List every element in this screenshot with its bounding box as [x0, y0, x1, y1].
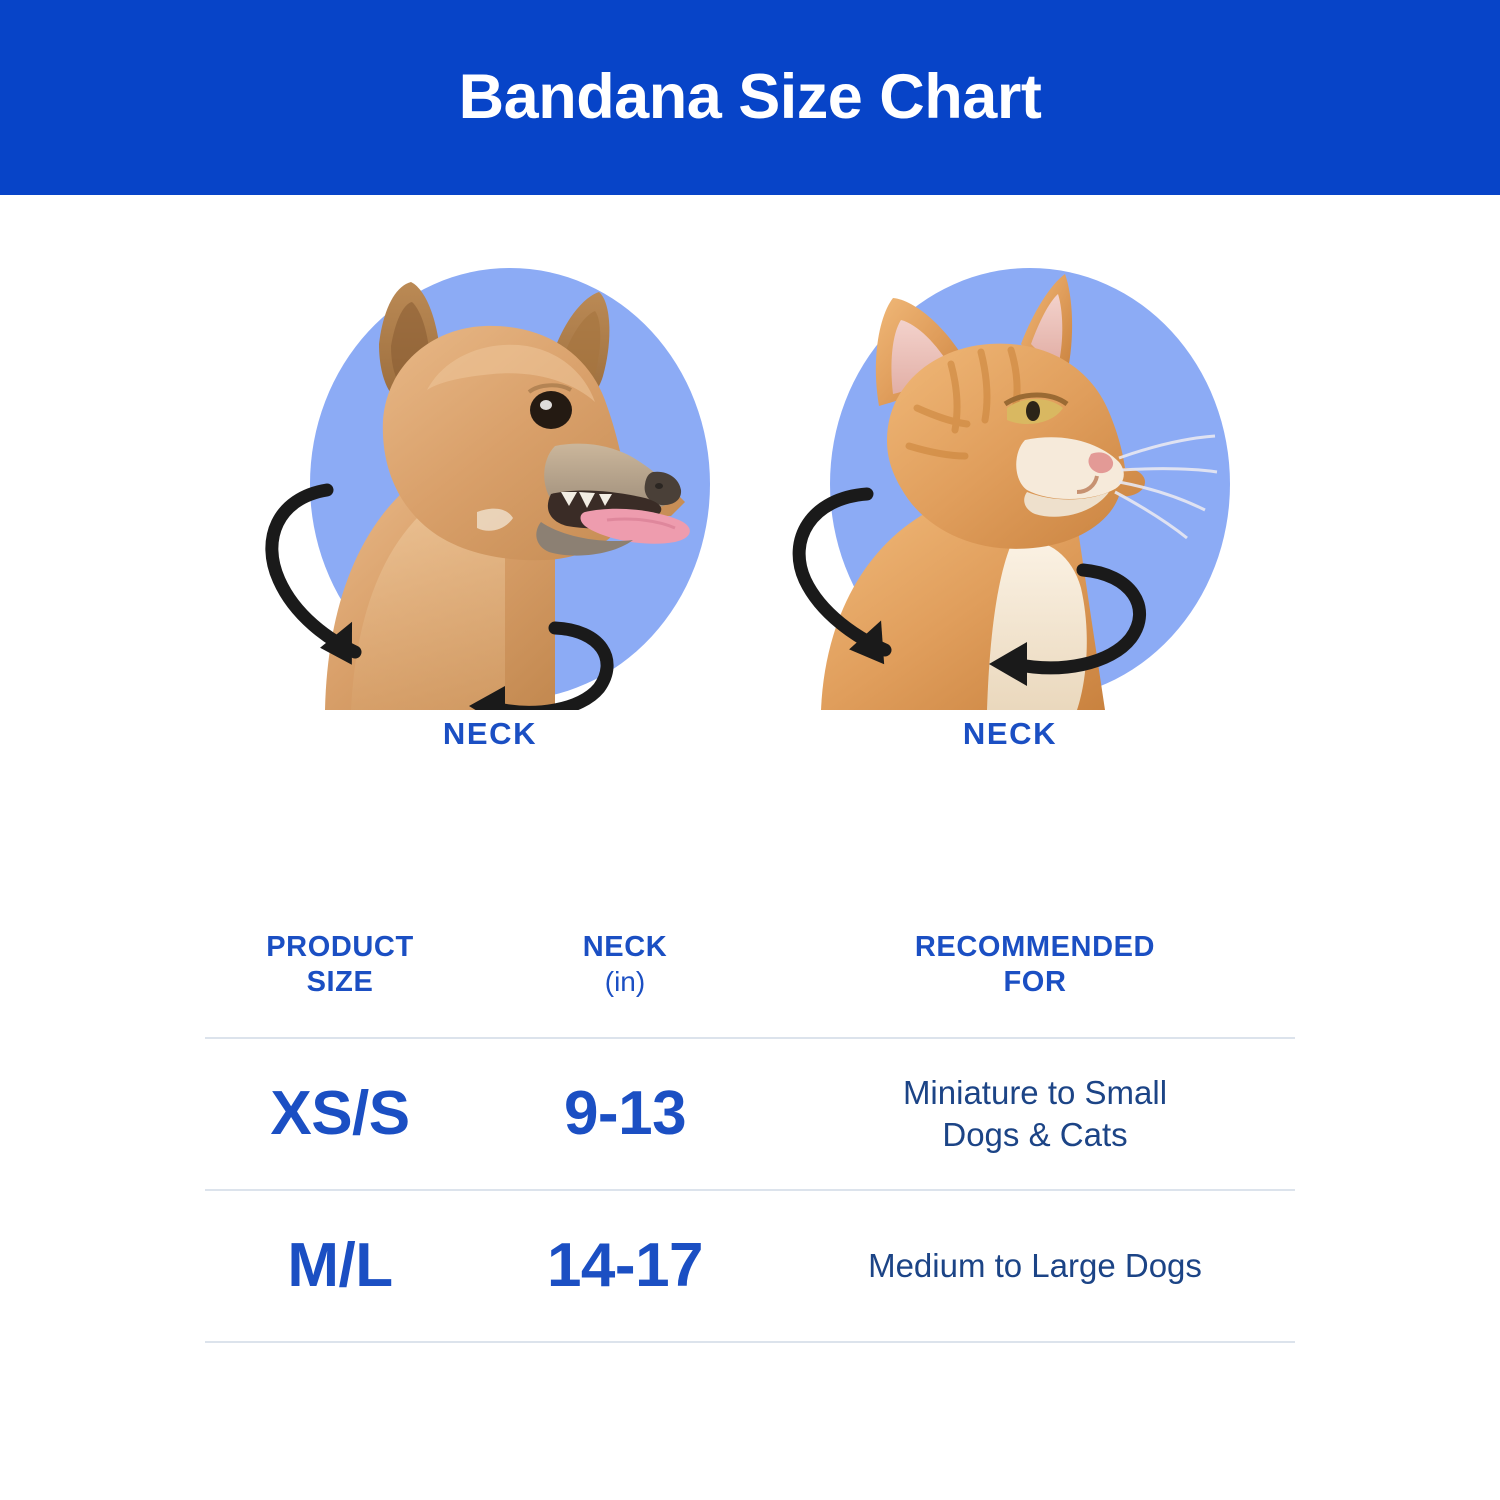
cell-neck: 14-17: [475, 1230, 775, 1301]
table-row: XS/S 9-13 Miniature to Small Dogs & Cats: [205, 1039, 1295, 1189]
column-header-recommended-for: RECOMMENDED FOR: [775, 930, 1295, 1001]
header-recommended-line1: RECOMMENDED: [915, 931, 1155, 963]
cat-illustration-block: NECK: [750, 240, 1270, 752]
header-recommended-line2: FOR: [1003, 966, 1066, 998]
cat-head-photo: [775, 240, 1245, 710]
column-header-neck: NECK (in): [475, 930, 775, 1000]
cat-neck-label: NECK: [963, 716, 1057, 752]
value-recommended-line1: Medium to Large Dogs: [868, 1247, 1202, 1284]
value-product-size: M/L: [287, 1231, 392, 1300]
value-recommended-line2: Dogs & Cats: [942, 1116, 1127, 1153]
dog-illustration-block: NECK: [230, 240, 750, 752]
value-recommended-line1: Miniature to Small: [903, 1074, 1167, 1111]
cat-stage: [775, 240, 1245, 710]
cell-neck: 9-13: [475, 1078, 775, 1149]
size-chart-table: PRODUCT SIZE NECK (in) RECOMMENDED FOR X…: [205, 930, 1295, 1343]
table-divider-bottom: [205, 1341, 1295, 1343]
cell-product-size: XS/S: [205, 1078, 475, 1149]
header-product-size-line2: SIZE: [307, 966, 374, 998]
illustration-row: NECK: [0, 240, 1500, 840]
header-neck-line1: NECK: [583, 931, 668, 963]
value-product-size: XS/S: [270, 1079, 409, 1148]
dog-neck-label: NECK: [443, 716, 537, 752]
value-neck: 14-17: [547, 1231, 703, 1300]
dog-head-photo: [255, 240, 725, 710]
value-neck: 9-13: [564, 1079, 686, 1148]
cell-recommended-for: Miniature to Small Dogs & Cats: [775, 1072, 1295, 1156]
cell-product-size: M/L: [205, 1230, 475, 1301]
page-title: Bandana Size Chart: [459, 66, 1042, 129]
table-header-row: PRODUCT SIZE NECK (in) RECOMMENDED FOR: [205, 930, 1295, 1037]
header-product-size-line1: PRODUCT: [266, 931, 414, 963]
column-header-product-size: PRODUCT SIZE: [205, 930, 475, 1001]
page-header-bar: Bandana Size Chart: [0, 0, 1500, 195]
dog-stage: [255, 240, 725, 710]
table-row: M/L 14-17 Medium to Large Dogs: [205, 1191, 1295, 1341]
header-neck-unit: (in): [475, 965, 775, 999]
cell-recommended-for: Medium to Large Dogs: [775, 1245, 1295, 1287]
